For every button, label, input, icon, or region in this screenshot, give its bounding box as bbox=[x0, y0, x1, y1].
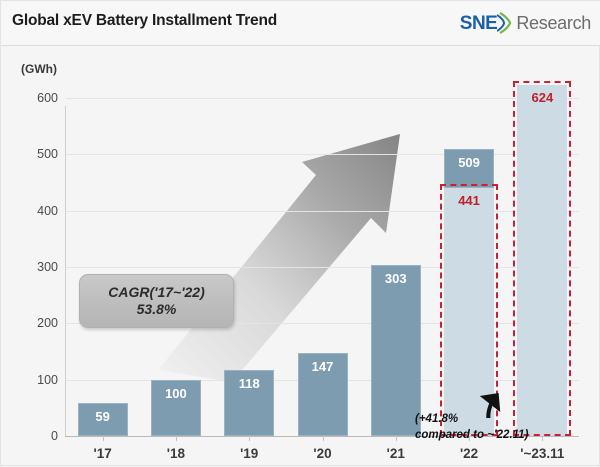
x-axis-tick bbox=[396, 436, 397, 441]
x-axis-tick-label: '22 bbox=[460, 446, 478, 461]
sne-research-logo: SNE Research bbox=[460, 10, 591, 36]
gridline bbox=[66, 267, 579, 268]
gridline bbox=[66, 154, 579, 155]
gridline bbox=[66, 98, 579, 99]
y-axis-tick-label: 100 bbox=[14, 373, 58, 387]
x-axis-tick bbox=[176, 436, 177, 441]
logo-brand-text: SNE bbox=[460, 14, 498, 33]
x-axis-tick bbox=[469, 436, 470, 441]
bar: 118 bbox=[224, 370, 274, 436]
growth-note-line-2: compared to ~'22.11) bbox=[415, 428, 528, 444]
bar: 147 bbox=[298, 353, 348, 436]
chart-area: (GWh) 59100118147303441509624 CAGR('17~' bbox=[1, 46, 600, 467]
x-axis-tick bbox=[542, 436, 543, 441]
y-axis-tick-label: 400 bbox=[14, 204, 58, 218]
y-axis-tick-label: 500 bbox=[14, 147, 58, 161]
bar-value-label: 118 bbox=[225, 376, 273, 391]
gridline bbox=[66, 211, 579, 212]
x-axis-tick-label: '21 bbox=[387, 446, 405, 461]
card-header: Global xEV Battery Installment Trend SNE… bbox=[1, 1, 600, 46]
x-axis-tick bbox=[323, 436, 324, 441]
x-axis-tick-label: '17 bbox=[94, 446, 112, 461]
bar: 509 bbox=[444, 149, 494, 187]
bar-value-label: 59 bbox=[79, 409, 127, 424]
x-axis-tick-label: '~23.11 bbox=[520, 446, 564, 461]
swoosh-icon bbox=[497, 12, 513, 34]
y-axis-tick-label: 0 bbox=[14, 429, 58, 443]
cagr-line-2: 53.8% bbox=[137, 301, 177, 319]
bar-value-label: 624 bbox=[517, 90, 567, 105]
x-axis-tick-label: '20 bbox=[313, 446, 331, 461]
bar-value-label: 303 bbox=[372, 271, 420, 286]
bar-value-label: 100 bbox=[152, 386, 200, 401]
x-axis-tick bbox=[103, 436, 104, 441]
growth-note-line-1: (+41.8% bbox=[415, 412, 528, 428]
growth-note: (+41.8% compared to ~'22.11) bbox=[415, 412, 528, 443]
x-axis-tick-label: '18 bbox=[167, 446, 185, 461]
bar: 59 bbox=[78, 403, 128, 436]
bar: 303 bbox=[371, 265, 421, 436]
x-axis-tick bbox=[249, 436, 250, 441]
bar: 624 bbox=[517, 85, 567, 436]
y-axis-unit-label: (GWh) bbox=[21, 62, 57, 76]
cagr-callout: CAGR('17~'22) 53.8% bbox=[79, 274, 234, 328]
x-axis-tick-label: '19 bbox=[240, 446, 258, 461]
page-title: Global xEV Battery Installment Trend bbox=[12, 12, 277, 30]
logo-word-text: Research bbox=[516, 14, 591, 32]
chart-card: Global xEV Battery Installment Trend SNE… bbox=[0, 0, 600, 466]
y-axis-tick-label: 300 bbox=[14, 260, 58, 274]
bar-value-label: 147 bbox=[299, 359, 347, 374]
cagr-line-1: CAGR('17~'22) bbox=[108, 284, 205, 302]
bar: 100 bbox=[151, 380, 201, 436]
bar-partial-value-label: 441 bbox=[444, 193, 494, 208]
bar-value-label: 509 bbox=[445, 155, 493, 170]
y-axis-tick-label: 600 bbox=[14, 91, 58, 105]
y-axis-tick-label: 200 bbox=[14, 316, 58, 330]
